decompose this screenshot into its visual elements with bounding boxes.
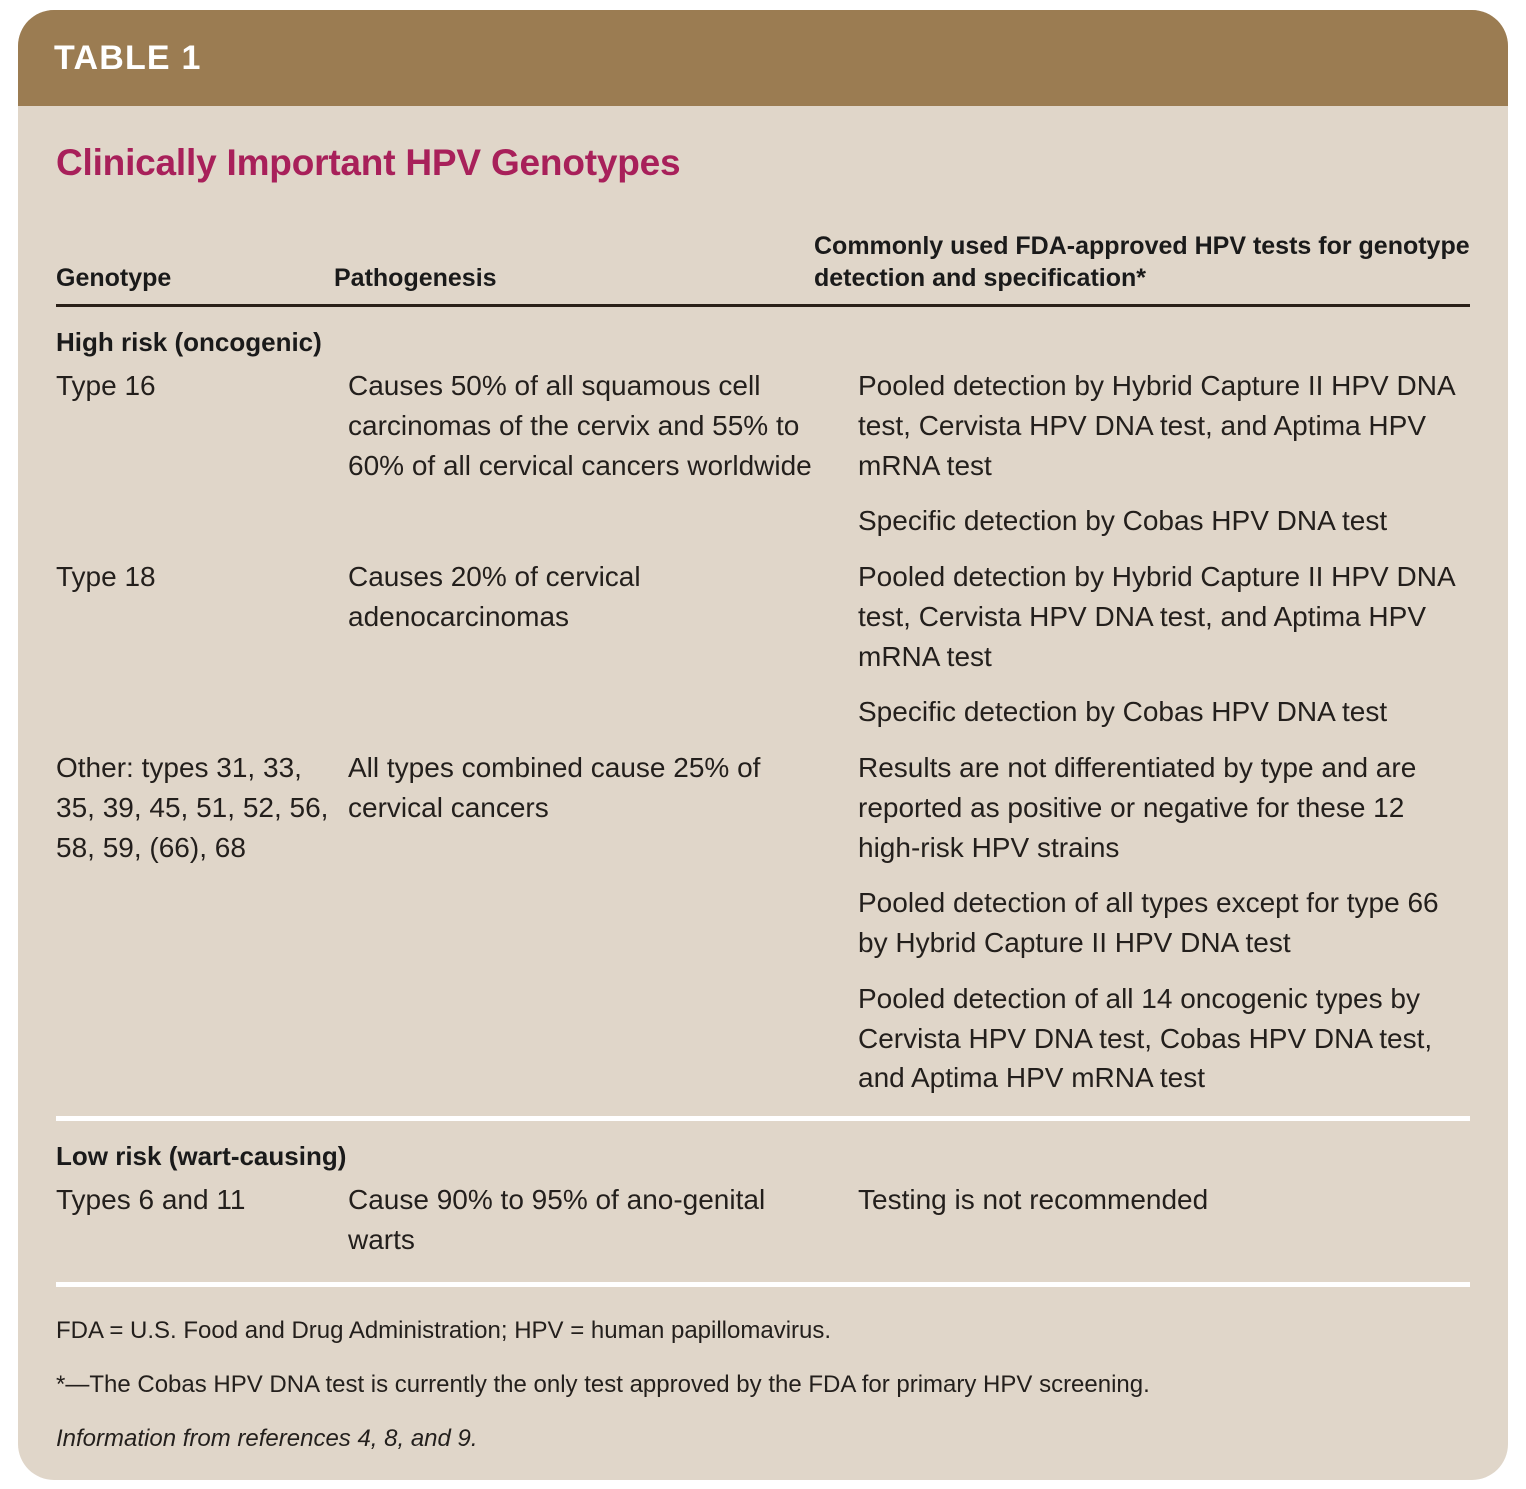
test-entry: Results are not differentiated by type a…	[858, 748, 1464, 867]
table-row: Type 18 Causes 20% of cervical adenocarc…	[56, 541, 1470, 732]
test-entry: Testing is not recommended	[858, 1180, 1464, 1220]
footnote-asterisk: *—The Cobas HPV DNA test is currently th…	[56, 1369, 1470, 1401]
test-entry: Specific detection by Cobas HPV DNA test	[858, 501, 1464, 541]
test-entry: Pooled detection by Hybrid Capture II HP…	[858, 557, 1464, 676]
table-header-row: Genotype Pathogenesis Commonly used FDA-…	[56, 208, 1470, 300]
test-entry: Pooled detection by Hybrid Capture II HP…	[858, 366, 1464, 485]
cell-tests: Results are not differentiated by type a…	[858, 748, 1470, 1098]
section-divider	[56, 1116, 1470, 1121]
table-row: Types 6 and 11 Cause 90% to 95% of ano-g…	[56, 1176, 1470, 1260]
footnotes: FDA = U.S. Food and Drug Administration;…	[56, 1297, 1470, 1456]
table-card: TABLE 1 Clinically Important HPV Genotyp…	[18, 10, 1508, 1480]
cell-pathogenesis: All types combined cause 25% of cervical…	[348, 748, 858, 828]
table-number-label: TABLE 1	[54, 39, 202, 78]
footnote-abbreviations: FDA = U.S. Food and Drug Administration;…	[56, 1315, 1470, 1347]
cell-genotype: Other: types 31, 33, 35, 39, 45, 51, 52,…	[56, 748, 348, 867]
cell-pathogenesis: Causes 20% of cervical adenocarcinomas	[348, 557, 858, 637]
table-row: Other: types 31, 33, 35, 39, 45, 51, 52,…	[56, 732, 1470, 1098]
cell-pathogenesis: Causes 50% of all squamous cell carcinom…	[348, 366, 858, 485]
section-label-high-risk: High risk (oncogenic)	[56, 307, 1470, 362]
column-header-tests: Commonly used FDA-approved HPV tests for…	[814, 230, 1470, 300]
footnote-source: Information from references 4, 8, and 9.	[56, 1423, 1470, 1455]
cell-tests: Pooled detection by Hybrid Capture II HP…	[858, 366, 1470, 541]
column-header-pathogenesis: Pathogenesis	[334, 262, 814, 300]
cell-genotype: Type 16	[56, 366, 348, 406]
test-entry: Pooled detection of all types except for…	[858, 883, 1464, 963]
table-body: Clinically Important HPV Genotypes Genot…	[18, 106, 1508, 1456]
page-title: Clinically Important HPV Genotypes	[56, 106, 1470, 184]
footnote-divider	[56, 1282, 1470, 1287]
cell-genotype: Types 6 and 11	[56, 1180, 348, 1220]
section-label-low-risk: Low risk (wart-causing)	[56, 1131, 1470, 1176]
table-row: Type 16 Causes 50% of all squamous cell …	[56, 362, 1470, 541]
cell-tests: Pooled detection by Hybrid Capture II HP…	[858, 557, 1470, 732]
test-entry: Specific detection by Cobas HPV DNA test	[858, 692, 1464, 732]
cell-pathogenesis: Cause 90% to 95% of ano-genital warts	[348, 1180, 858, 1260]
cell-tests: Testing is not recommended	[858, 1180, 1470, 1220]
test-entry: Pooled detection of all 14 oncogenic typ…	[858, 979, 1464, 1098]
column-header-genotype: Genotype	[56, 262, 334, 300]
cell-genotype: Type 18	[56, 557, 348, 597]
table-banner: TABLE 1	[18, 10, 1508, 106]
